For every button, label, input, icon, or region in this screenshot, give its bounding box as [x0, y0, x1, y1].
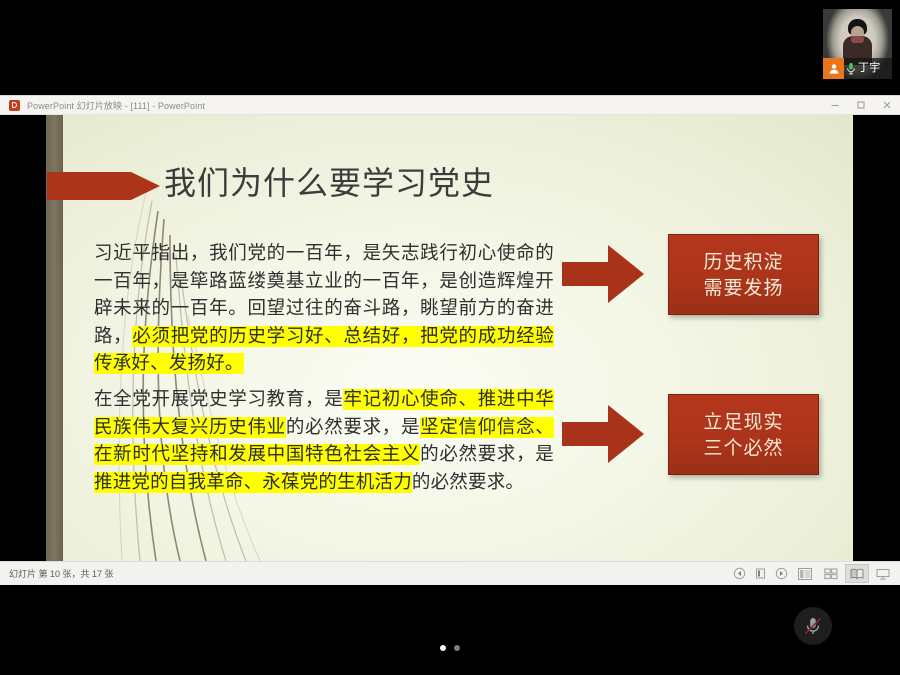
callout-box-2: 立足现实 三个必然	[668, 394, 819, 475]
powerpoint-icon	[9, 100, 20, 111]
text-run: 的必然要求，是	[420, 444, 554, 465]
callout-line-2: 三个必然	[703, 435, 783, 461]
callout-line-1: 历史积淀	[703, 249, 783, 275]
powerpoint-window: PowerPoint 幻灯片放映 - [111] - PowerPoint	[0, 95, 900, 584]
window-title: PowerPoint 幻灯片放映 - [111] - PowerPoint	[27, 99, 205, 112]
reading-view-button[interactable]	[845, 564, 869, 583]
paragraph-2: 在全党开展党史学习教育，是牢记初心使命、推进中华民族伟大复兴历史伟业的必然要求，…	[94, 386, 554, 496]
text-run: 的必然要求，是	[286, 417, 420, 438]
participant-video-tile[interactable]: 丁宇	[823, 9, 892, 79]
previous-slide-button[interactable]	[730, 564, 749, 583]
microphone-icon	[844, 58, 857, 79]
status-bar-controls	[729, 562, 896, 585]
page-dot-1[interactable]	[440, 645, 446, 651]
microphone-muted-icon[interactable]	[794, 607, 832, 645]
highlighted-text-run: 推进党的自我革命、永葆党的生机活力	[94, 472, 412, 493]
text-run: 的必然要求。	[412, 472, 524, 493]
slide-title-row: 我们为什么要学习党史	[46, 160, 853, 212]
slide-status-text: 幻灯片 第 10 张，共 17 张	[9, 567, 114, 580]
window-controls	[822, 96, 900, 114]
slide-canvas: 我们为什么要学习党史 习近平指出，我们党的一百年，是矢志践行初心使命的一百年，是…	[46, 115, 853, 561]
text-run: 在全党开展党史学习教育，是	[94, 389, 343, 410]
callout-line-2: 需要发扬	[703, 275, 783, 301]
paragraph-1: 习近平指出，我们党的一百年，是矢志践行初心使命的一百年，是筚路蓝缕奠基立业的一百…	[94, 240, 554, 378]
status-bar: 幻灯片 第 10 张，共 17 张	[0, 561, 900, 585]
page-indicator-dots[interactable]	[0, 645, 900, 651]
arrow-right-shape	[47, 166, 160, 206]
pause-button[interactable]	[751, 564, 770, 583]
participant-info-bar: 丁宇	[823, 58, 892, 79]
block-arrow-right-icon	[562, 403, 644, 465]
person-icon	[823, 58, 844, 79]
highlighted-text-run: 必须把党的历史学习好、总结好，把党的成功经验传承好、发扬好。	[94, 326, 554, 375]
slide-show-area[interactable]: 我们为什么要学习党史 习近平指出，我们党的一百年，是矢志践行初心使命的一百年，是…	[0, 115, 900, 561]
minimize-button[interactable]	[822, 96, 848, 114]
slide-sorter-button[interactable]	[819, 564, 843, 583]
slideshow-button[interactable]	[871, 564, 895, 583]
block-arrow-right-icon	[562, 243, 644, 305]
normal-view-button[interactable]	[793, 564, 817, 583]
page-dot-2[interactable]	[454, 645, 460, 651]
close-button[interactable]	[874, 96, 900, 114]
next-slide-button[interactable]	[772, 564, 791, 583]
callout-line-1: 立足现实	[703, 409, 783, 435]
meeting-window: 丁宇 PowerPoint 幻灯片放映 - [111] - PowerPoint	[0, 0, 900, 675]
participant-name: 丁宇	[857, 58, 881, 79]
maximize-button[interactable]	[848, 96, 874, 114]
page-title: 我们为什么要学习党史	[164, 158, 494, 204]
window-titlebar[interactable]: PowerPoint 幻灯片放映 - [111] - PowerPoint	[0, 96, 900, 115]
callout-box-1: 历史积淀 需要发扬	[668, 234, 819, 315]
